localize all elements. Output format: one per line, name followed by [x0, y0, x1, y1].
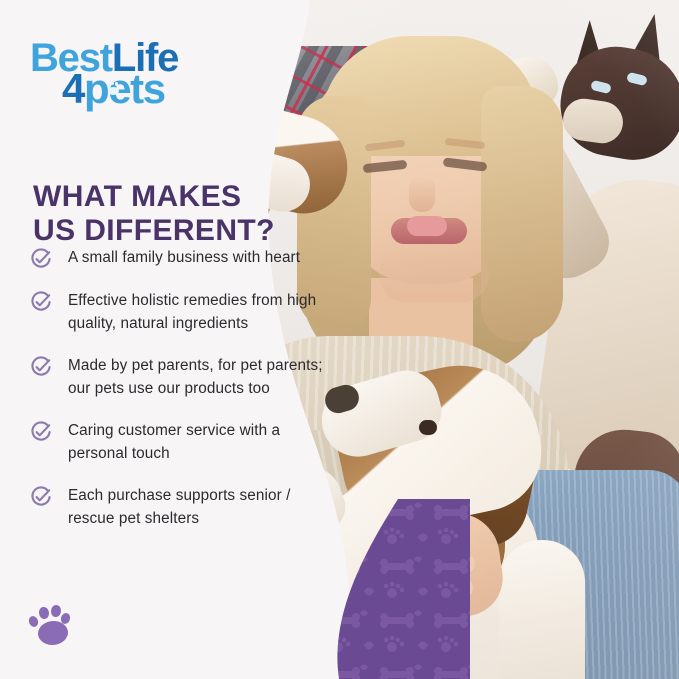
logo-paw-icon [106, 81, 121, 95]
check-circle-icon [30, 248, 52, 270]
list-item-label: Made by pet parents, for pet parents; ou… [68, 354, 330, 400]
list-item: Each purchase supports senior / rescue p… [30, 484, 330, 530]
brand-logo[interactable]: BestLife 4pets [30, 38, 200, 110]
marketing-card: BestLife 4pets WHAT MAKES US DIFFERENT? [0, 0, 679, 679]
list-item-label: A small family business with heart [68, 246, 300, 269]
check-circle-icon [30, 421, 52, 443]
list-item: Caring customer service with a personal … [30, 419, 330, 465]
benefits-list: A small family business with heart Effec… [30, 246, 330, 549]
headline-line-2: US DIFFERENT? [33, 214, 323, 248]
list-item-label: Each purchase supports senior / rescue p… [68, 484, 330, 530]
headline-line-1: WHAT MAKES [33, 180, 241, 213]
page-title: WHAT MAKES US DIFFERENT? [33, 180, 323, 248]
list-item: Made by pet parents, for pet parents; ou… [30, 354, 330, 400]
list-item-label: Caring customer service with a personal … [68, 419, 330, 465]
list-item: Effective holistic remedies from high qu… [30, 289, 330, 335]
list-item-label: Effective holistic remedies from high qu… [68, 289, 330, 335]
paw-print-icon [28, 604, 74, 650]
list-item: A small family business with heart [30, 246, 330, 270]
check-circle-icon [30, 356, 52, 378]
check-circle-icon [30, 291, 52, 313]
logo-text-pets: pets [84, 65, 165, 112]
content-panel: BestLife 4pets WHAT MAKES US DIFFERENT? [0, 0, 330, 679]
logo-text-four: 4 [62, 65, 84, 112]
check-circle-icon [30, 486, 52, 508]
logo-line-two: 4pets [62, 68, 165, 110]
